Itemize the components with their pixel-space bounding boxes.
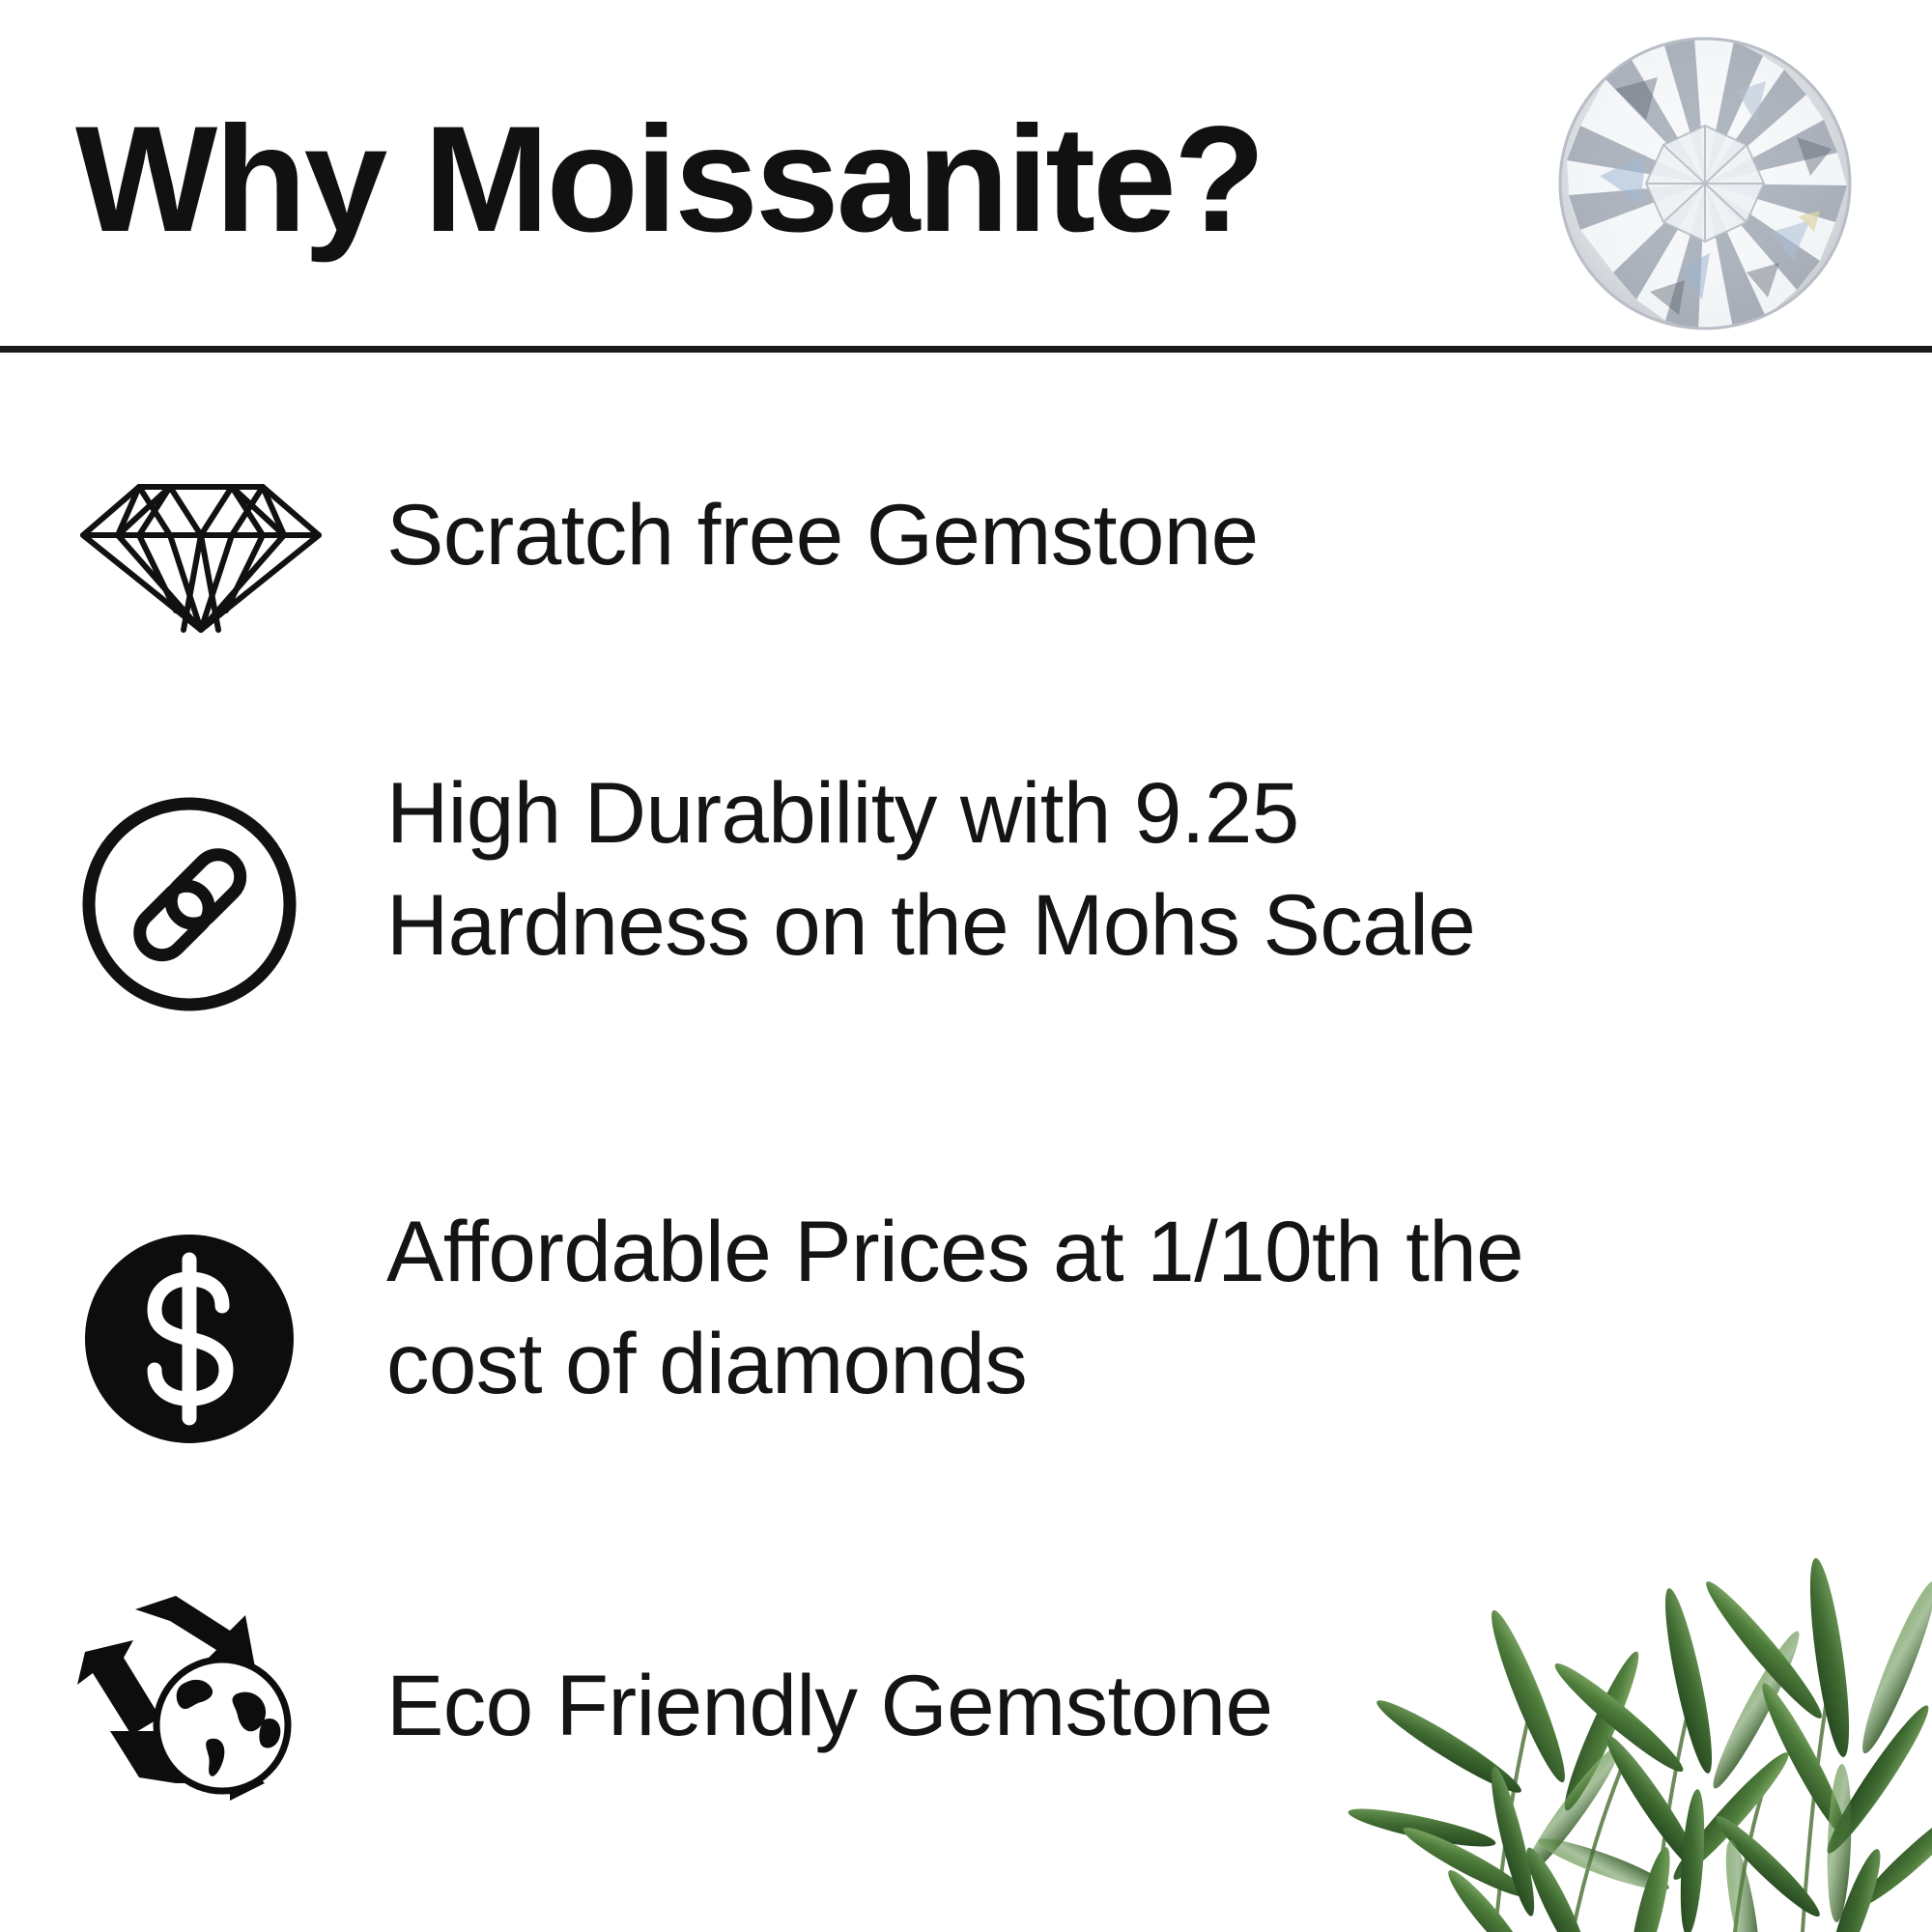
recycle-globe-icon [75,1594,311,1812]
round-brilliant-cut-moissanite-photo [1557,31,1853,336]
feature-row-eco-friendly: Eco Friendly Gemstone [0,1594,1932,1816]
link-circle-icon [75,790,303,1018]
header: Why Moissanite? [0,0,1932,352]
feature-label-scratch-free: Scratch free Gemstone [386,479,1259,591]
page-title: Why Moissanite? [75,104,1263,255]
diamond-outline-icon [75,466,327,636]
feature-row-affordable-price: Affordable Prices at 1/10th the cost of … [0,1209,1932,1490]
feature-row-scratch-free: Scratch free Gemstone [0,454,1932,647]
infographic-page: Why Moissanite? [0,0,1932,1932]
feature-label-eco-friendly: Eco Friendly Gemstone [386,1650,1272,1762]
dollar-coin-icon [75,1225,303,1453]
feature-row-durability: High Durability with 9.25 Hardness on th… [0,773,1932,1034]
header-divider [0,346,1932,353]
feature-label-affordable-price: Affordable Prices at 1/10th the cost of … [386,1196,1523,1419]
feature-label-durability: High Durability with 9.25 Hardness on th… [386,757,1475,980]
